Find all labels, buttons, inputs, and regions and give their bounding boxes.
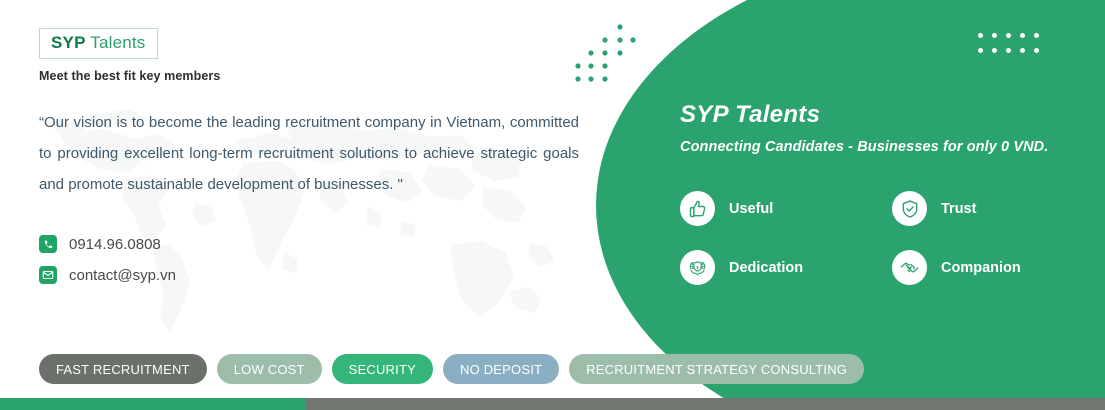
tagline-text: Meet the best fit key members xyxy=(39,69,584,83)
feature-label: Dedication xyxy=(729,260,803,276)
feature-companion[interactable]: Companion xyxy=(892,250,1104,285)
strip-segment-gray xyxy=(305,398,1105,410)
contact-list: 0914.96.0808 contact@syp.vn xyxy=(39,230,584,289)
strip-segment-green xyxy=(0,398,305,410)
laurel-shield-icon xyxy=(680,250,715,285)
logo-primary-text: SYP xyxy=(51,33,86,52)
syp-talents-logo[interactable]: SYP Talents xyxy=(39,28,158,59)
shield-check-icon xyxy=(892,191,927,226)
feature-label: Useful xyxy=(729,201,773,217)
feature-dedication[interactable]: Dedication xyxy=(680,250,892,285)
envelope-icon xyxy=(39,266,57,284)
contact-row-phone[interactable]: 0914.96.0808 xyxy=(39,230,584,258)
phone-number-text: 0914.96.0808 xyxy=(69,236,161,253)
panel-subtitle: Connecting Candidates - Businesses for o… xyxy=(680,139,1100,155)
pill-no-deposit[interactable]: NO DEPOSIT xyxy=(443,354,559,384)
pill-fast-recruitment[interactable]: FAST RECRUITMENT xyxy=(39,354,207,384)
feature-label: Companion xyxy=(941,260,1021,276)
feature-label: Trust xyxy=(941,201,976,217)
vision-quote-text: “Our vision is to become the leading rec… xyxy=(39,107,579,200)
contact-row-email[interactable]: contact@syp.vn xyxy=(39,261,584,289)
pill-low-cost[interactable]: LOW COST xyxy=(217,354,322,384)
feature-useful[interactable]: Useful xyxy=(680,191,892,226)
phone-icon xyxy=(39,235,57,253)
pill-security[interactable]: SECURITY xyxy=(332,354,433,384)
bottom-color-strip xyxy=(0,398,1105,410)
left-content-column: SYP Talents Meet the best fit key member… xyxy=(39,0,584,292)
panel-title: SYP Talents xyxy=(680,102,1100,128)
feature-trust[interactable]: Trust xyxy=(892,191,1104,226)
handshake-icon xyxy=(892,250,927,285)
green-panel-content: SYP Talents Connecting Candidates - Busi… xyxy=(680,0,1100,285)
banner-root: SYP Talents Meet the best fit key member… xyxy=(0,0,1105,410)
thumbs-up-icon xyxy=(680,191,715,226)
email-address-text: contact@syp.vn xyxy=(69,267,176,284)
pill-recruitment-strategy-consulting[interactable]: RECRUITMENT STRATEGY CONSULTING xyxy=(569,354,864,384)
feature-grid: Useful Trust xyxy=(680,191,1100,285)
service-tag-pills: FAST RECRUITMENT LOW COST SECURITY NO DE… xyxy=(39,354,874,384)
logo-secondary-text: Talents xyxy=(86,33,146,52)
